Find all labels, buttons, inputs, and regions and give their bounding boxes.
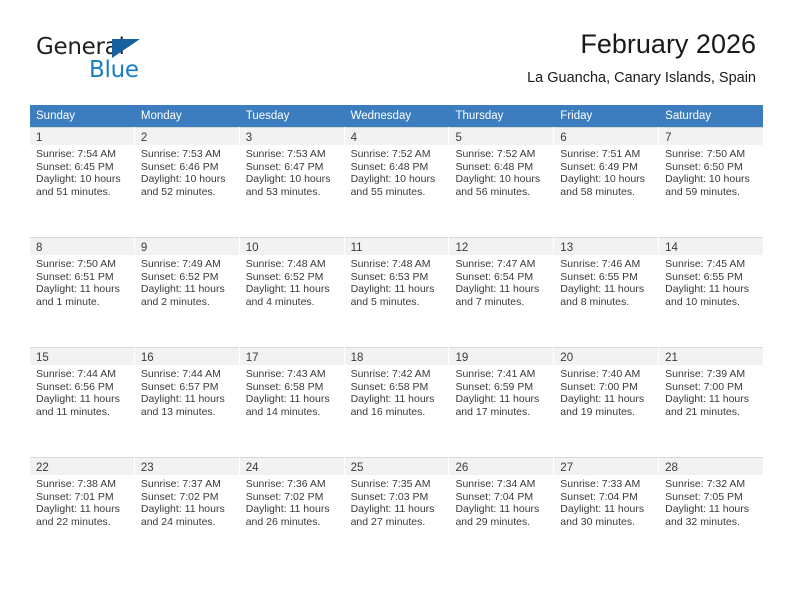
day-cell[interactable]: 15Sunrise: 7:44 AMSunset: 6:56 PMDayligh… [30,347,135,457]
sunset-text: Sunset: 6:58 PM [351,381,445,394]
sunrise-text: Sunrise: 7:53 AM [141,148,235,161]
day-cell[interactable]: 7Sunrise: 7:50 AMSunset: 6:50 PMDaylight… [659,127,763,237]
day-number: 14 [665,240,678,257]
sunset-text: Sunset: 7:04 PM [560,491,654,504]
week-row: 8Sunrise: 7:50 AMSunset: 6:51 PMDaylight… [30,237,763,347]
day-number-band: 5 [449,127,553,145]
sunrise-text: Sunrise: 7:46 AM [560,258,654,271]
day-number: 15 [36,350,49,367]
day-info: Sunrise: 7:50 AMSunset: 6:51 PMDaylight:… [30,255,134,308]
daylight-text-line1: Daylight: 11 hours [455,283,549,296]
day-number-band: 2 [135,127,239,145]
weekday-header-row: SundayMondayTuesdayWednesdayThursdayFrid… [30,105,763,127]
daylight-text-line1: Daylight: 11 hours [36,283,130,296]
sunrise-text: Sunrise: 7:48 AM [351,258,445,271]
sunset-text: Sunset: 6:59 PM [455,381,549,394]
sunset-text: Sunset: 7:03 PM [351,491,445,504]
day-info: Sunrise: 7:45 AMSunset: 6:55 PMDaylight:… [659,255,763,308]
sunset-text: Sunset: 6:51 PM [36,271,130,284]
daylight-text-line2: and 51 minutes. [36,186,130,199]
day-number: 10 [246,240,259,257]
daylight-text-line2: and 29 minutes. [455,516,549,529]
day-number: 22 [36,460,49,477]
day-number-band: 10 [240,237,344,255]
sunset-text: Sunset: 7:02 PM [141,491,235,504]
daylight-text-line2: and 19 minutes. [560,406,654,419]
sunset-text: Sunset: 6:57 PM [141,381,235,394]
calendar-page: General Blue February 2026 La Guancha, C… [0,0,792,612]
sunset-text: Sunset: 6:55 PM [665,271,759,284]
day-cell[interactable]: 21Sunrise: 7:39 AMSunset: 7:00 PMDayligh… [659,347,763,457]
sunset-text: Sunset: 6:56 PM [36,381,130,394]
day-cell[interactable]: 26Sunrise: 7:34 AMSunset: 7:04 PMDayligh… [449,457,554,567]
day-number-band: 12 [449,237,553,255]
weekday-header-monday: Monday [135,105,240,127]
day-number-band: 17 [240,347,344,365]
daylight-text-line2: and 17 minutes. [455,406,549,419]
weekday-header-wednesday: Wednesday [345,105,450,127]
sunrise-text: Sunrise: 7:33 AM [560,478,654,491]
day-cell[interactable]: 8Sunrise: 7:50 AMSunset: 6:51 PMDaylight… [30,237,135,347]
daylight-text-line1: Daylight: 11 hours [36,393,130,406]
sunrise-text: Sunrise: 7:48 AM [246,258,340,271]
sunrise-text: Sunrise: 7:36 AM [246,478,340,491]
daylight-text-line1: Daylight: 11 hours [665,393,759,406]
sunrise-text: Sunrise: 7:50 AM [665,148,759,161]
day-cell[interactable]: 6Sunrise: 7:51 AMSunset: 6:49 PMDaylight… [554,127,659,237]
daylight-text-line1: Daylight: 11 hours [560,393,654,406]
day-info: Sunrise: 7:43 AMSunset: 6:58 PMDaylight:… [240,365,344,418]
daylight-text-line2: and 1 minute. [36,296,130,309]
day-info: Sunrise: 7:48 AMSunset: 6:53 PMDaylight:… [345,255,449,308]
day-number: 26 [455,460,468,477]
daylight-text-line2: and 16 minutes. [351,406,445,419]
daylight-text-line2: and 53 minutes. [246,186,340,199]
day-cell[interactable]: 5Sunrise: 7:52 AMSunset: 6:48 PMDaylight… [449,127,554,237]
day-info: Sunrise: 7:46 AMSunset: 6:55 PMDaylight:… [554,255,658,308]
daylight-text-line1: Daylight: 10 hours [246,173,340,186]
sunset-text: Sunset: 6:46 PM [141,161,235,174]
sunrise-text: Sunrise: 7:43 AM [246,368,340,381]
sunset-text: Sunset: 7:04 PM [455,491,549,504]
daylight-text-line1: Daylight: 10 hours [36,173,130,186]
day-number-band: 15 [30,347,134,365]
day-number-band: 3 [240,127,344,145]
day-info: Sunrise: 7:52 AMSunset: 6:48 PMDaylight:… [345,145,449,198]
sunset-text: Sunset: 7:02 PM [246,491,340,504]
day-cell[interactable]: 16Sunrise: 7:44 AMSunset: 6:57 PMDayligh… [135,347,240,457]
daylight-text-line1: Daylight: 11 hours [351,393,445,406]
weekday-header-thursday: Thursday [449,105,554,127]
daylight-text-line1: Daylight: 11 hours [455,393,549,406]
day-number: 16 [141,350,154,367]
day-cell[interactable]: 19Sunrise: 7:41 AMSunset: 6:59 PMDayligh… [449,347,554,457]
weekday-header-saturday: Saturday [659,105,763,127]
calendar-grid: SundayMondayTuesdayWednesdayThursdayFrid… [30,105,763,567]
day-number-band: 7 [659,127,763,145]
sunset-text: Sunset: 7:05 PM [665,491,759,504]
sunrise-text: Sunrise: 7:39 AM [665,368,759,381]
page-subtitle: La Guancha, Canary Islands, Spain [527,68,756,88]
day-cell[interactable]: 13Sunrise: 7:46 AMSunset: 6:55 PMDayligh… [554,237,659,347]
day-info: Sunrise: 7:40 AMSunset: 7:00 PMDaylight:… [554,365,658,418]
day-number: 27 [560,460,573,477]
day-number-band: 11 [345,237,449,255]
day-number-band: 18 [345,347,449,365]
day-number: 18 [351,350,364,367]
daylight-text-line2: and 55 minutes. [351,186,445,199]
day-number: 28 [665,460,678,477]
sunrise-text: Sunrise: 7:54 AM [36,148,130,161]
day-cell[interactable]: 4Sunrise: 7:52 AMSunset: 6:48 PMDaylight… [345,127,450,237]
sunrise-text: Sunrise: 7:40 AM [560,368,654,381]
daylight-text-line2: and 14 minutes. [246,406,340,419]
daylight-text-line2: and 30 minutes. [560,516,654,529]
day-info: Sunrise: 7:52 AMSunset: 6:48 PMDaylight:… [449,145,553,198]
daylight-text-line2: and 5 minutes. [351,296,445,309]
day-number: 23 [141,460,154,477]
day-number: 24 [246,460,259,477]
day-number-band: 6 [554,127,658,145]
generalblue-logo[interactable]: General Blue [36,34,236,86]
daylight-text-line2: and 24 minutes. [141,516,235,529]
page-header: General Blue February 2026 La Guancha, C… [0,0,792,100]
weekday-header-sunday: Sunday [30,105,135,127]
weekday-header-friday: Friday [554,105,659,127]
day-number: 9 [141,240,147,257]
day-number: 21 [665,350,678,367]
day-number: 11 [351,240,363,257]
sunset-text: Sunset: 6:48 PM [351,161,445,174]
daylight-text-line2: and 52 minutes. [141,186,235,199]
sunrise-text: Sunrise: 7:41 AM [455,368,549,381]
sunrise-text: Sunrise: 7:52 AM [455,148,549,161]
daylight-text-line1: Daylight: 11 hours [560,503,654,516]
daylight-text-line1: Daylight: 11 hours [246,393,340,406]
sunrise-text: Sunrise: 7:35 AM [351,478,445,491]
daylight-text-line1: Daylight: 11 hours [141,393,235,406]
week-row: 22Sunrise: 7:38 AMSunset: 7:01 PMDayligh… [30,457,763,567]
day-number: 6 [560,130,566,147]
day-cell[interactable]: 22Sunrise: 7:38 AMSunset: 7:01 PMDayligh… [30,457,135,567]
day-number: 1 [36,130,42,147]
day-cell[interactable]: 2Sunrise: 7:53 AMSunset: 6:46 PMDaylight… [135,127,240,237]
daylight-text-line2: and 11 minutes. [36,406,130,419]
daylight-text-line1: Daylight: 10 hours [455,173,549,186]
daylight-text-line1: Daylight: 11 hours [665,503,759,516]
daylight-text-line1: Daylight: 10 hours [560,173,654,186]
day-number: 3 [246,130,252,147]
day-number: 19 [455,350,468,367]
sunset-text: Sunset: 6:53 PM [351,271,445,284]
calendar-weeks: 1Sunrise: 7:54 AMSunset: 6:45 PMDaylight… [30,127,763,567]
day-info: Sunrise: 7:50 AMSunset: 6:50 PMDaylight:… [659,145,763,198]
daylight-text-line2: and 21 minutes. [665,406,759,419]
week-row: 15Sunrise: 7:44 AMSunset: 6:56 PMDayligh… [30,347,763,457]
day-info: Sunrise: 7:42 AMSunset: 6:58 PMDaylight:… [345,365,449,418]
sunset-text: Sunset: 6:52 PM [246,271,340,284]
sunrise-text: Sunrise: 7:53 AM [246,148,340,161]
sunset-text: Sunset: 7:00 PM [665,381,759,394]
day-number-band: 14 [659,237,763,255]
day-number-band: 16 [135,347,239,365]
sunrise-text: Sunrise: 7:42 AM [351,368,445,381]
daylight-text-line1: Daylight: 11 hours [351,283,445,296]
page-title: February 2026 [527,28,756,60]
day-info: Sunrise: 7:53 AMSunset: 6:47 PMDaylight:… [240,145,344,198]
daylight-text-line2: and 56 minutes. [455,186,549,199]
day-number-band: 19 [449,347,553,365]
day-cell[interactable]: 14Sunrise: 7:45 AMSunset: 6:55 PMDayligh… [659,237,763,347]
day-number-band: 9 [135,237,239,255]
day-number: 2 [141,130,147,147]
day-info: Sunrise: 7:41 AMSunset: 6:59 PMDaylight:… [449,365,553,418]
day-cell[interactable]: 17Sunrise: 7:43 AMSunset: 6:58 PMDayligh… [240,347,345,457]
day-cell[interactable]: 3Sunrise: 7:53 AMSunset: 6:47 PMDaylight… [240,127,345,237]
sunset-text: Sunset: 7:00 PM [560,381,654,394]
daylight-text-line1: Daylight: 11 hours [560,283,654,296]
day-info: Sunrise: 7:54 AMSunset: 6:45 PMDaylight:… [30,145,134,198]
daylight-text-line2: and 10 minutes. [665,296,759,309]
day-info: Sunrise: 7:32 AMSunset: 7:05 PMDaylight:… [659,475,763,528]
sunrise-text: Sunrise: 7:38 AM [36,478,130,491]
day-cell[interactable]: 27Sunrise: 7:33 AMSunset: 7:04 PMDayligh… [554,457,659,567]
day-number: 7 [665,130,671,147]
sunset-text: Sunset: 6:47 PM [246,161,340,174]
sunrise-text: Sunrise: 7:52 AM [351,148,445,161]
daylight-text-line1: Daylight: 11 hours [246,283,340,296]
day-number: 13 [560,240,573,257]
day-number: 8 [36,240,42,257]
sunrise-text: Sunrise: 7:44 AM [141,368,235,381]
daylight-text-line2: and 32 minutes. [665,516,759,529]
day-number-band: 8 [30,237,134,255]
daylight-text-line1: Daylight: 11 hours [665,283,759,296]
day-number-band: 21 [659,347,763,365]
sunrise-text: Sunrise: 7:37 AM [141,478,235,491]
daylight-text-line2: and 59 minutes. [665,186,759,199]
daylight-text-line1: Daylight: 11 hours [246,503,340,516]
day-info: Sunrise: 7:34 AMSunset: 7:04 PMDaylight:… [449,475,553,528]
day-number-band: 13 [554,237,658,255]
day-number: 20 [560,350,573,367]
day-number: 25 [351,460,364,477]
day-number-band: 23 [135,457,239,475]
sunset-text: Sunset: 6:52 PM [141,271,235,284]
day-info: Sunrise: 7:39 AMSunset: 7:00 PMDaylight:… [659,365,763,418]
day-info: Sunrise: 7:44 AMSunset: 6:57 PMDaylight:… [135,365,239,418]
sunset-text: Sunset: 6:58 PM [246,381,340,394]
sunrise-text: Sunrise: 7:32 AM [665,478,759,491]
week-row: 1Sunrise: 7:54 AMSunset: 6:45 PMDaylight… [30,127,763,237]
day-cell[interactable]: 1Sunrise: 7:54 AMSunset: 6:45 PMDaylight… [30,127,135,237]
daylight-text-line2: and 7 minutes. [455,296,549,309]
daylight-text-line1: Daylight: 11 hours [141,283,235,296]
day-number: 4 [351,130,357,147]
daylight-text-line1: Daylight: 11 hours [455,503,549,516]
day-cell[interactable]: 23Sunrise: 7:37 AMSunset: 7:02 PMDayligh… [135,457,240,567]
sunrise-text: Sunrise: 7:49 AM [141,258,235,271]
day-number-band: 24 [240,457,344,475]
day-cell[interactable]: 12Sunrise: 7:47 AMSunset: 6:54 PMDayligh… [449,237,554,347]
day-info: Sunrise: 7:48 AMSunset: 6:52 PMDaylight:… [240,255,344,308]
sunrise-text: Sunrise: 7:34 AM [455,478,549,491]
day-info: Sunrise: 7:35 AMSunset: 7:03 PMDaylight:… [345,475,449,528]
sunset-text: Sunset: 6:48 PM [455,161,549,174]
daylight-text-line2: and 58 minutes. [560,186,654,199]
day-cell[interactable]: 24Sunrise: 7:36 AMSunset: 7:02 PMDayligh… [240,457,345,567]
daylight-text-line2: and 26 minutes. [246,516,340,529]
day-info: Sunrise: 7:49 AMSunset: 6:52 PMDaylight:… [135,255,239,308]
day-info: Sunrise: 7:51 AMSunset: 6:49 PMDaylight:… [554,145,658,198]
day-number-band: 20 [554,347,658,365]
day-number-band: 22 [30,457,134,475]
day-info: Sunrise: 7:47 AMSunset: 6:54 PMDaylight:… [449,255,553,308]
daylight-text-line1: Daylight: 10 hours [351,173,445,186]
day-cell[interactable]: 18Sunrise: 7:42 AMSunset: 6:58 PMDayligh… [345,347,450,457]
daylight-text-line2: and 8 minutes. [560,296,654,309]
sunrise-text: Sunrise: 7:50 AM [36,258,130,271]
daylight-text-line1: Daylight: 11 hours [351,503,445,516]
sunrise-text: Sunrise: 7:44 AM [36,368,130,381]
day-number: 5 [455,130,461,147]
day-number-band: 25 [345,457,449,475]
day-number-band: 1 [30,127,134,145]
day-info: Sunrise: 7:33 AMSunset: 7:04 PMDaylight:… [554,475,658,528]
day-number-band: 4 [345,127,449,145]
day-number-band: 28 [659,457,763,475]
daylight-text-line2: and 27 minutes. [351,516,445,529]
daylight-text-line2: and 22 minutes. [36,516,130,529]
sunrise-text: Sunrise: 7:51 AM [560,148,654,161]
sunset-text: Sunset: 6:54 PM [455,271,549,284]
sunset-text: Sunset: 6:49 PM [560,161,654,174]
sunrise-text: Sunrise: 7:45 AM [665,258,759,271]
day-info: Sunrise: 7:44 AMSunset: 6:56 PMDaylight:… [30,365,134,418]
daylight-text-line1: Daylight: 10 hours [665,173,759,186]
sunset-text: Sunset: 6:55 PM [560,271,654,284]
daylight-text-line1: Daylight: 11 hours [36,503,130,516]
day-cell[interactable]: 10Sunrise: 7:48 AMSunset: 6:52 PMDayligh… [240,237,345,347]
sunset-text: Sunset: 6:45 PM [36,161,130,174]
daylight-text-line1: Daylight: 10 hours [141,173,235,186]
daylight-text-line2: and 13 minutes. [141,406,235,419]
day-info: Sunrise: 7:53 AMSunset: 6:46 PMDaylight:… [135,145,239,198]
logo-text-blue: Blue [89,57,139,83]
title-block: February 2026 La Guancha, Canary Islands… [527,28,756,88]
daylight-text-line1: Daylight: 11 hours [141,503,235,516]
sunset-text: Sunset: 7:01 PM [36,491,130,504]
sunset-text: Sunset: 6:50 PM [665,161,759,174]
day-cell[interactable]: 28Sunrise: 7:32 AMSunset: 7:05 PMDayligh… [659,457,763,567]
day-cell[interactable]: 11Sunrise: 7:48 AMSunset: 6:53 PMDayligh… [345,237,450,347]
triangle-icon [112,39,140,58]
day-number-band: 26 [449,457,553,475]
daylight-text-line2: and 2 minutes. [141,296,235,309]
day-number-band: 27 [554,457,658,475]
sunrise-text: Sunrise: 7:47 AM [455,258,549,271]
daylight-text-line2: and 4 minutes. [246,296,340,309]
day-info: Sunrise: 7:38 AMSunset: 7:01 PMDaylight:… [30,475,134,528]
day-info: Sunrise: 7:36 AMSunset: 7:02 PMDaylight:… [240,475,344,528]
day-cell[interactable]: 9Sunrise: 7:49 AMSunset: 6:52 PMDaylight… [135,237,240,347]
day-cell[interactable]: 25Sunrise: 7:35 AMSunset: 7:03 PMDayligh… [345,457,450,567]
day-cell[interactable]: 20Sunrise: 7:40 AMSunset: 7:00 PMDayligh… [554,347,659,457]
day-info: Sunrise: 7:37 AMSunset: 7:02 PMDaylight:… [135,475,239,528]
day-number: 17 [246,350,259,367]
day-number: 12 [455,240,468,257]
weekday-header-tuesday: Tuesday [240,105,345,127]
